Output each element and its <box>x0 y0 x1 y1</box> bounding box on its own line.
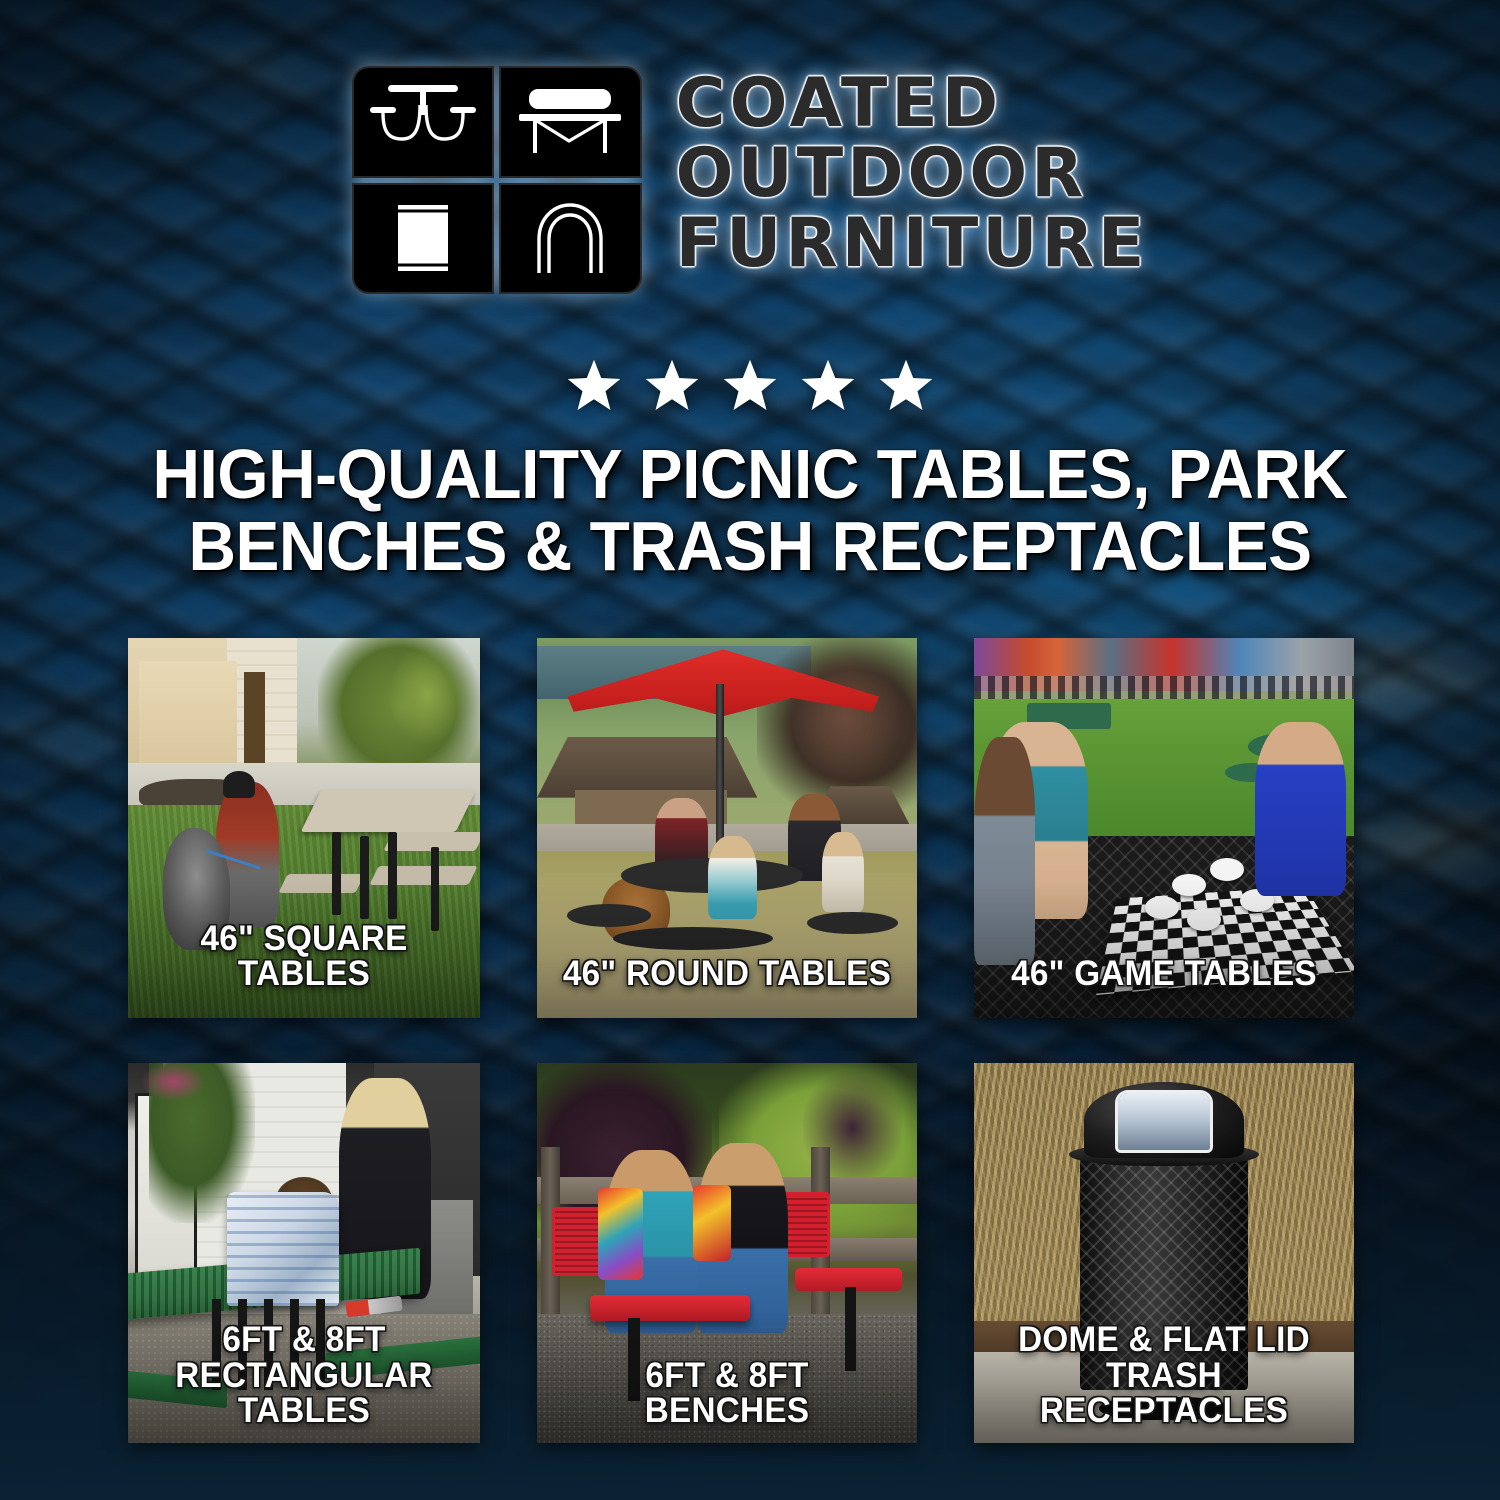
product-card-benches[interactable]: 6FT & 8FT BENCHES <box>537 1063 917 1443</box>
logo-wordmark: COATED OUTDOOR FURNITURE <box>676 66 1149 278</box>
product-card-trash-receptacles[interactable]: DOME & FLAT LID TRASH RECEPTACLES <box>974 1063 1354 1443</box>
star-icon <box>563 356 625 416</box>
product-caption: 46" SQUARE TABLES <box>143 921 466 992</box>
logo-tile-bike-rack <box>499 183 642 295</box>
product-card-rectangular-tables[interactable]: 6FT & 8FT RECTANGULAR TABLES <box>128 1063 480 1443</box>
product-caption: 6FT & 8FT RECTANGULAR TABLES <box>143 1322 466 1429</box>
logo-tile-trash-receptacle <box>352 183 495 295</box>
logo-tile-park-bench <box>499 66 642 178</box>
product-caption: 6FT & 8FT BENCHES <box>552 1358 902 1429</box>
headline: HIGH-QUALITY PICNIC TABLES, PARK BENCHES… <box>101 438 1398 582</box>
product-caption: 46" ROUND TABLES <box>552 956 902 992</box>
logo-mark-grid <box>352 66 642 294</box>
star-icon <box>797 356 859 416</box>
product-card-square-tables[interactable]: 46" SQUARE TABLES <box>128 638 480 1018</box>
promo-banner: COATED OUTDOOR FURNITURE HIGH-QUALITY PI… <box>0 0 1500 1500</box>
star-icon <box>719 356 781 416</box>
logo-word-outdoor: OUTDOOR <box>676 140 1149 208</box>
bike-rack-icon <box>511 193 629 283</box>
product-caption: DOME & FLAT LID TRASH RECEPTACLES <box>989 1322 1339 1429</box>
brand-logo[interactable]: COATED OUTDOOR FURNITURE <box>0 66 1500 294</box>
star-rating <box>0 356 1500 416</box>
star-icon <box>641 356 703 416</box>
star-icon <box>875 356 937 416</box>
product-card-game-tables[interactable]: 46" GAME TABLES <box>974 638 1354 1018</box>
logo-word-furniture: FURNITURE <box>676 210 1149 278</box>
picnic-table-icon <box>364 77 482 167</box>
trash-receptacle-icon <box>364 193 482 283</box>
product-grid: 46" SQUARE TABLES <box>128 638 1378 1443</box>
logo-word-coated: COATED <box>676 70 1149 138</box>
park-bench-icon <box>511 77 629 167</box>
product-card-round-tables[interactable]: 46" ROUND TABLES <box>537 638 917 1018</box>
product-caption: 46" GAME TABLES <box>989 956 1339 992</box>
logo-tile-picnic-table <box>352 66 495 178</box>
